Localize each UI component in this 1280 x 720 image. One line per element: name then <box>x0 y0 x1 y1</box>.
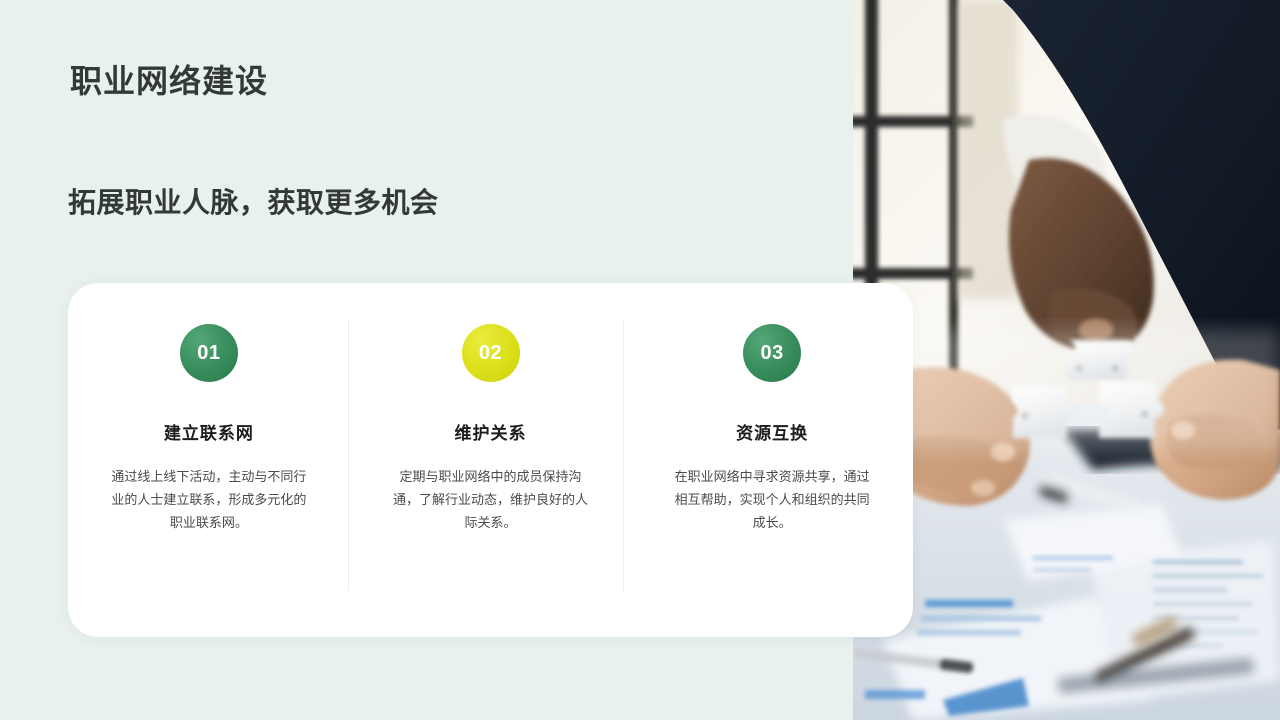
content-column-2[interactable]: 02 维护关系 定期与职业网络中的成员保持沟通，了解行业动态，维护良好的人际关系… <box>350 283 632 637</box>
content-column-1[interactable]: 01 建立联系网 通过线上线下活动，主动与不同行业的人士建立联系，形成多元化的职… <box>68 283 350 637</box>
column-body-1: 通过线上线下活动，主动与不同行业的人士建立联系，形成多元化的职业联系网。 <box>106 465 311 534</box>
content-columns: 01 建立联系网 通过线上线下活动，主动与不同行业的人士建立联系，形成多元化的职… <box>68 283 913 637</box>
column-body-2: 定期与职业网络中的成员保持沟通，了解行业动态，维护良好的人际关系。 <box>388 465 593 534</box>
column-title-3: 资源互换 <box>736 419 808 444</box>
step-badge-02: 02 <box>462 324 520 382</box>
step-badge-03: 03 <box>743 324 801 382</box>
column-title-2: 维护关系 <box>455 419 527 444</box>
column-body-3: 在职业网络中寻求资源共享，通过相互帮助，实现个人和组织的共同成长。 <box>670 465 875 534</box>
page-title: 职业网络建设 <box>70 56 268 102</box>
column-title-1: 建立联系网 <box>164 419 254 444</box>
content-card: 01 建立联系网 通过线上线下活动，主动与不同行业的人士建立联系，形成多元化的职… <box>68 283 913 637</box>
step-badge-01: 01 <box>180 324 238 382</box>
slide-root: 职业网络建设 拓展职业人脉，获取更多机会 01 建立联系网 通过线上线下活动，主… <box>0 0 1280 720</box>
hero-photo <box>853 0 1280 720</box>
page-subtitle: 拓展职业人脉，获取更多机会 <box>68 181 439 221</box>
content-column-3[interactable]: 03 资源互换 在职业网络中寻求资源共享，通过相互帮助，实现个人和组织的共同成长… <box>631 283 913 637</box>
hero-photo-illustration <box>853 0 1280 720</box>
